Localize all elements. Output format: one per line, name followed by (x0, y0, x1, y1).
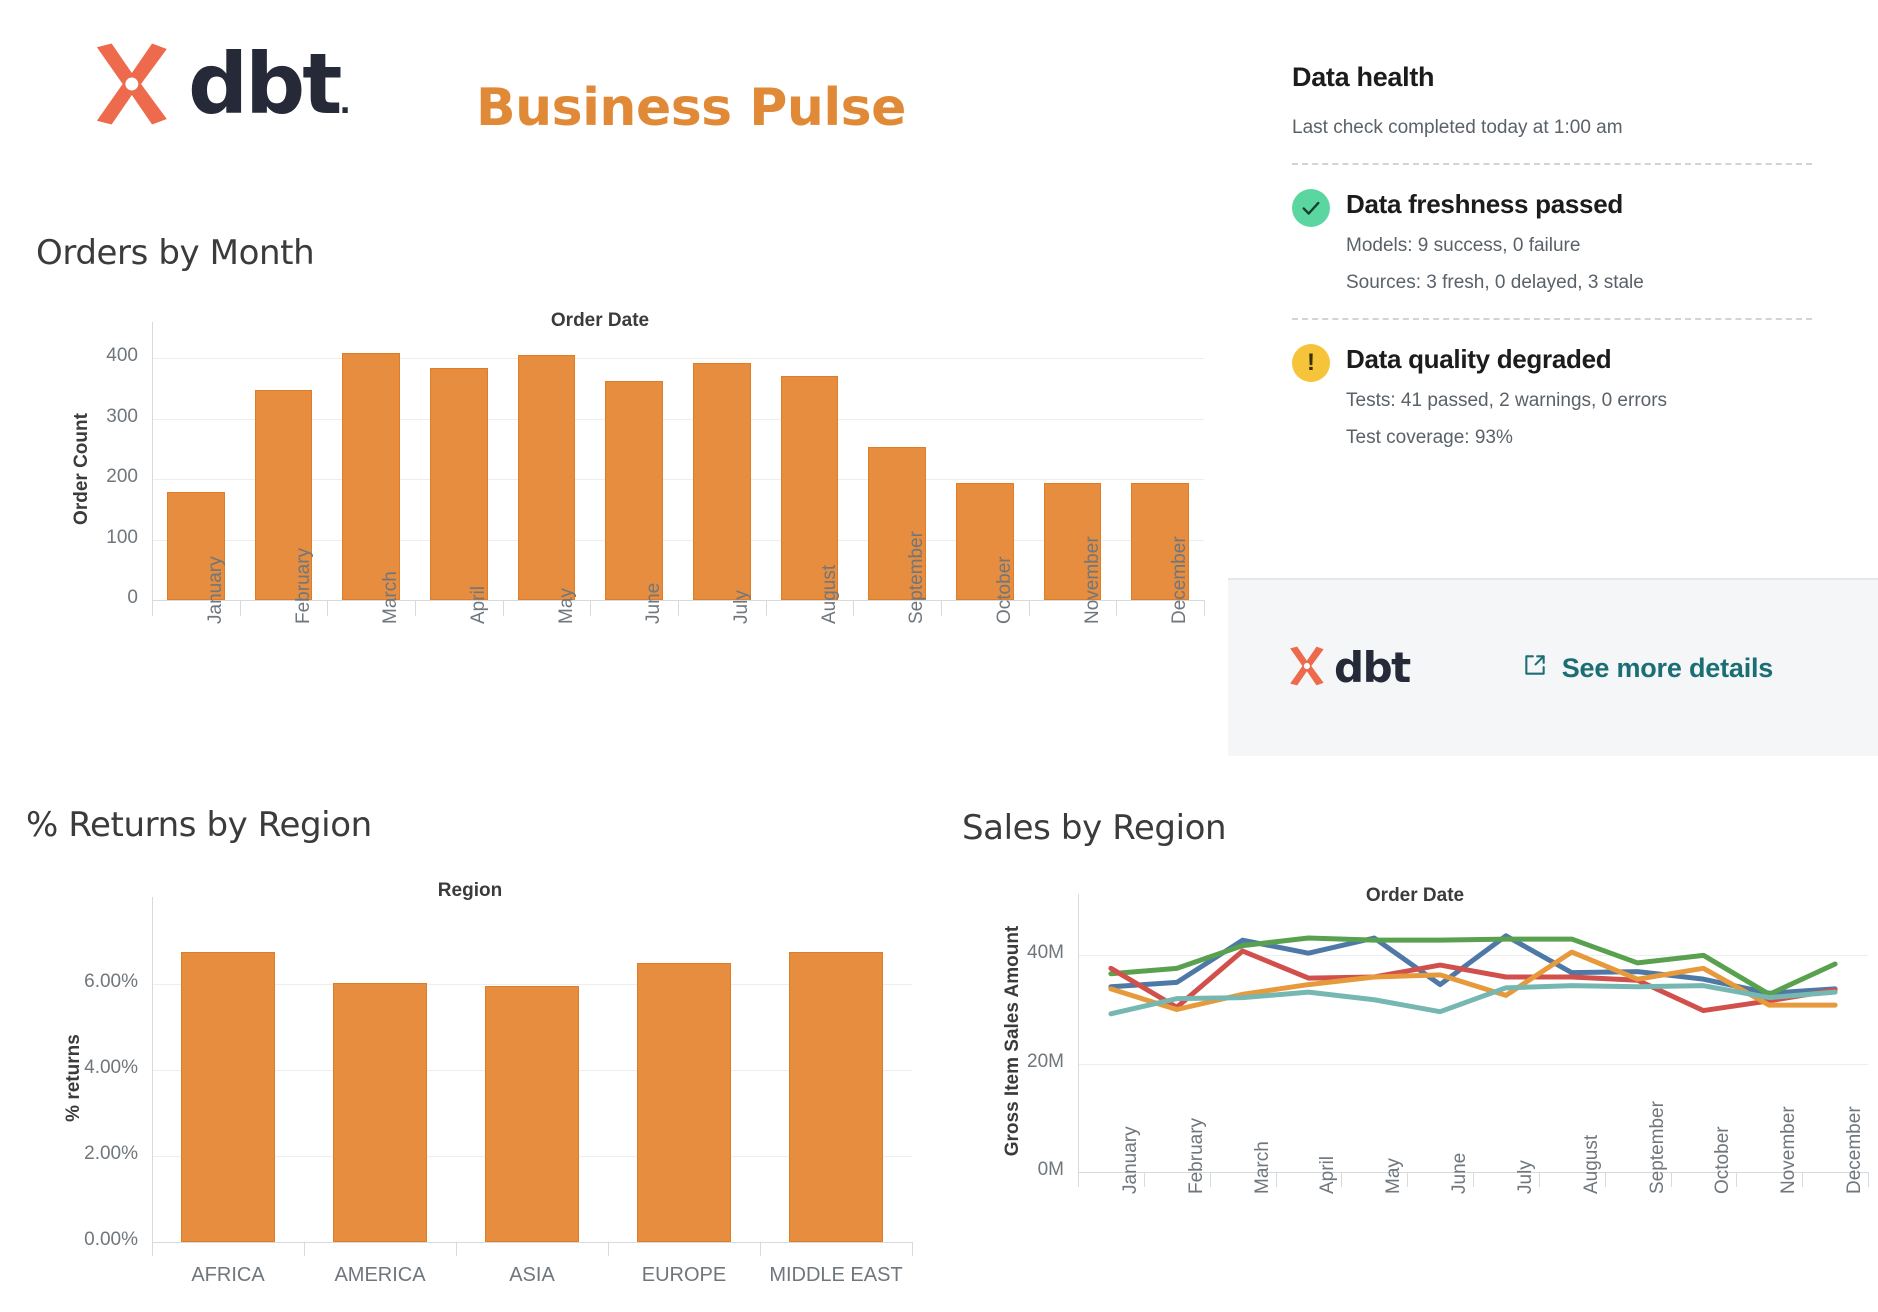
x-tick-mark (503, 600, 504, 616)
line-series-series-orange (1111, 952, 1835, 1009)
returns-by-region-column-header: Region (0, 880, 940, 902)
x-tick-mark (853, 600, 854, 616)
x-tick-mark (1868, 1172, 1869, 1187)
x-axis-tick: June (1449, 1153, 1471, 1194)
dbt-logo-small: dbt (1284, 644, 1410, 693)
bar[interactable] (518, 355, 576, 600)
x-tick-mark (152, 600, 153, 616)
health-item-quality: ! Data quality degraded Tests: 41 passed… (1292, 342, 1812, 449)
see-more-details-card[interactable]: dbt See more details (1228, 578, 1878, 756)
x-axis-tick: March (1252, 1141, 1274, 1194)
x-axis-tick: September (1647, 1101, 1669, 1194)
x-axis-tick: December (1844, 1106, 1866, 1194)
warning-circle-icon: ! (1292, 344, 1330, 382)
y-axis-tick: 6.00% (40, 971, 138, 993)
external-link-icon (1522, 652, 1548, 685)
x-tick-mark (590, 600, 591, 616)
x-axis-tick: AFRICA (152, 1264, 304, 1287)
x-axis-tick: AMERICA (304, 1264, 456, 1287)
x-tick-mark (912, 1242, 913, 1256)
x-tick-mark (1736, 1172, 1737, 1187)
x-axis-tick: April (1317, 1156, 1339, 1194)
y-axis-tick: 0 (56, 587, 138, 609)
line-series-series-red (1111, 951, 1835, 1011)
health-heading: Data quality degraded (1346, 344, 1667, 375)
data-health-last-check: Last check completed today at 1:00 am (1292, 117, 1812, 139)
x-tick-mark (1078, 1172, 1079, 1187)
sales-by-region-title: Sales by Region (962, 808, 1226, 848)
y-axis-tick: 2.00% (40, 1143, 138, 1165)
x-tick-mark (304, 1242, 305, 1256)
bar[interactable] (181, 952, 275, 1242)
line-series-series-blue (1111, 936, 1835, 993)
data-health-title: Data health (1292, 62, 1812, 93)
x-axis-tick: January (1120, 1126, 1142, 1194)
x-axis-tick: August (1581, 1135, 1603, 1194)
x-axis-tick: EUROPE (608, 1264, 760, 1287)
divider (1292, 318, 1812, 320)
x-axis-tick: October (994, 556, 1016, 624)
see-more-details-link[interactable]: See more details (1522, 652, 1773, 685)
x-axis-tick: February (293, 548, 315, 624)
page-title: Business Pulse (476, 78, 906, 138)
x-tick-mark (608, 1242, 609, 1256)
x-tick-mark (1802, 1172, 1803, 1187)
x-tick-mark (1407, 1172, 1408, 1187)
gridline (1078, 955, 1868, 956)
bar[interactable] (430, 368, 488, 600)
x-tick-mark (327, 600, 328, 616)
dbt-wordmark: dbt (1334, 647, 1410, 689)
bar[interactable] (637, 963, 731, 1242)
line-series-series-green (1111, 938, 1835, 994)
x-axis-tick: March (380, 571, 402, 624)
divider (1292, 163, 1812, 165)
see-more-details-label: See more details (1562, 653, 1773, 684)
x-tick-mark (941, 600, 942, 616)
x-tick-mark (766, 600, 767, 616)
gridline (1078, 1064, 1868, 1065)
y-axis-label: Order Count (71, 379, 93, 559)
x-tick-mark (240, 600, 241, 616)
bar[interactable] (342, 353, 400, 600)
bar[interactable] (693, 363, 751, 600)
line-series-series-teal (1111, 986, 1835, 1014)
x-axis-tick: July (731, 590, 753, 624)
x-axis-tick: September (906, 531, 928, 624)
x-axis-tick: December (1169, 536, 1191, 624)
x-axis-tick: ASIA (456, 1264, 608, 1287)
dbt-x-icon (84, 38, 176, 130)
x-axis-tick: July (1515, 1160, 1537, 1194)
x-axis-tick: June (643, 583, 665, 624)
bar[interactable] (605, 381, 663, 600)
x-tick-mark (1341, 1172, 1342, 1187)
x-axis-line (152, 1242, 912, 1243)
y-axis-tick: 4.00% (40, 1057, 138, 1079)
x-axis-tick: April (468, 586, 490, 624)
y-axis-tick: 400 (56, 345, 138, 367)
x-tick-mark (1144, 1172, 1145, 1187)
dbt-x-icon (1284, 644, 1328, 693)
x-axis-tick: October (1712, 1126, 1734, 1194)
health-heading: Data freshness passed (1346, 189, 1644, 220)
x-axis-tick: November (1082, 536, 1104, 624)
x-tick-mark (456, 1242, 457, 1256)
x-tick-mark (152, 1242, 153, 1256)
x-tick-mark (415, 600, 416, 616)
x-tick-mark (1029, 600, 1030, 616)
y-axis-tick: 200 (56, 466, 138, 488)
x-tick-mark (1539, 1172, 1540, 1187)
x-axis-tick: November (1778, 1106, 1800, 1194)
x-axis-tick: January (205, 556, 227, 624)
orders-by-month-column-header: Order Date (0, 310, 1200, 332)
y-axis-label: % returns (63, 988, 85, 1168)
x-tick-mark (1276, 1172, 1277, 1187)
y-axis-tick: 0.00% (40, 1229, 138, 1251)
y-axis-tick: 100 (56, 527, 138, 549)
returns-by-region-title: % Returns by Region (26, 805, 372, 845)
dbt-trademark-dot: . (339, 86, 347, 121)
check-circle-icon (1292, 189, 1330, 227)
bar[interactable] (485, 986, 579, 1242)
y-axis-line (152, 322, 153, 600)
health-detail-sources: Sources: 3 fresh, 0 delayed, 3 stale (1346, 272, 1644, 294)
x-tick-mark (760, 1242, 761, 1256)
y-axis-line (1078, 894, 1079, 1172)
data-health-panel: Data health Last check completed today a… (1292, 62, 1812, 449)
x-tick-mark (1204, 600, 1205, 616)
x-axis-tick: May (1383, 1158, 1405, 1194)
y-axis-tick: 300 (56, 406, 138, 428)
exclamation-glyph: ! (1307, 351, 1315, 375)
dbt-wordmark: dbt. (188, 42, 348, 126)
x-tick-mark (1473, 1172, 1474, 1187)
health-item-freshness: Data freshness passed Models: 9 success,… (1292, 187, 1812, 294)
y-axis-line (152, 897, 153, 1242)
health-detail-models: Models: 9 success, 0 failure (1346, 235, 1644, 257)
x-axis-tick: May (556, 588, 578, 624)
dbt-logo: dbt. (84, 38, 348, 130)
health-detail-coverage: Test coverage: 93% (1346, 427, 1667, 449)
dashboard-page: dbt. Business Pulse Data health Last che… (0, 0, 1878, 1312)
bar[interactable] (789, 952, 883, 1242)
gridline (152, 358, 1204, 359)
bar[interactable] (333, 983, 427, 1242)
x-tick-mark (1671, 1172, 1672, 1187)
x-tick-mark (1605, 1172, 1606, 1187)
x-axis-tick: February (1186, 1118, 1208, 1194)
sales-by-region-column-header: Order Date (960, 885, 1870, 907)
orders-by-month-title: Orders by Month (36, 233, 314, 273)
health-detail-tests: Tests: 41 passed, 2 warnings, 0 errors (1346, 390, 1667, 412)
x-tick-mark (678, 600, 679, 616)
x-tick-mark (1116, 600, 1117, 616)
x-axis-tick: MIDDLE EAST (760, 1264, 912, 1287)
y-axis-label: Gross Item Sales Amount (1002, 891, 1024, 1191)
x-tick-mark (1210, 1172, 1211, 1187)
x-axis-tick: August (819, 565, 841, 624)
